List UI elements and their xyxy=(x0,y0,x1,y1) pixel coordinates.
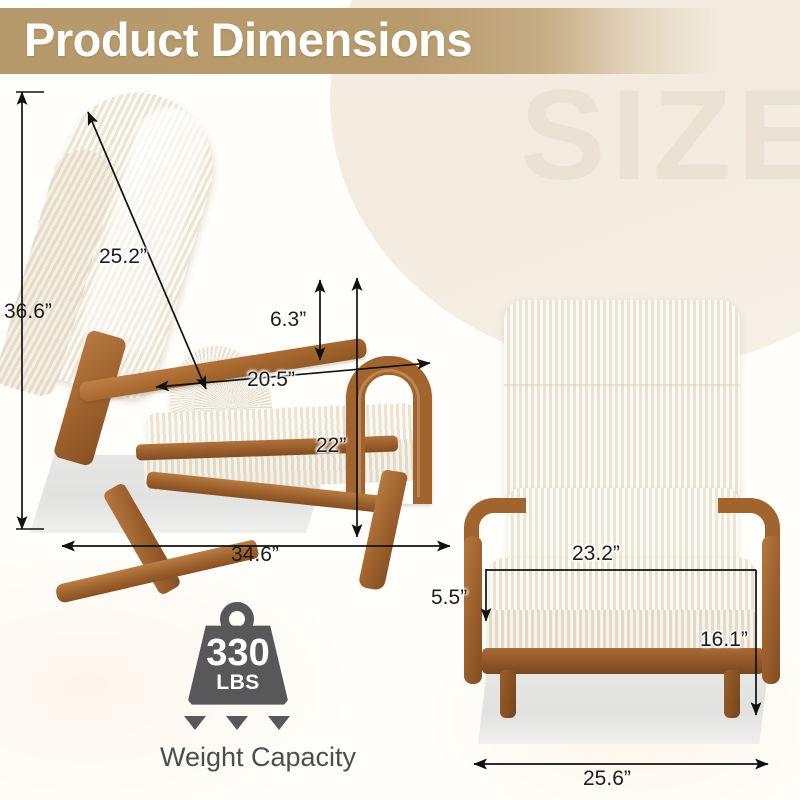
dim-label-backrest-height: 25.2” xyxy=(99,245,147,269)
weight-capacity-value: 330 xyxy=(186,634,290,672)
weight-capacity-block: 330 LBS Weight Capacity xyxy=(130,602,380,782)
dim-label-seat-height: 16.1” xyxy=(700,628,748,652)
weight-capacity-unit: LBS xyxy=(186,672,290,693)
weight-arrow-icon-1 xyxy=(184,716,206,730)
weight-icon: 330 LBS xyxy=(178,602,298,712)
dim-label-armrest-gap: 6.3” xyxy=(270,308,306,332)
weight-arrow-icon-2 xyxy=(226,716,248,730)
dim-label-seat-depth: 20.5” xyxy=(247,368,295,392)
dimension-lines xyxy=(0,0,800,800)
dim-label-overall-depth: 34.6” xyxy=(231,543,279,567)
dim-label-overall-height: 36.6” xyxy=(4,300,52,324)
dim-label-seat-width: 23.2” xyxy=(572,542,620,566)
dim-label-cushion-thickness: 5.5” xyxy=(431,586,467,610)
dim-label-seat-to-floor: 22” xyxy=(316,434,346,458)
infographic-canvas: SIZE Product Dimensions xyxy=(0,0,800,800)
weight-capacity-caption: Weight Capacity xyxy=(108,742,408,773)
dim-label-overall-width: 25.6” xyxy=(583,767,631,791)
weight-arrow-icon-3 xyxy=(268,716,290,730)
